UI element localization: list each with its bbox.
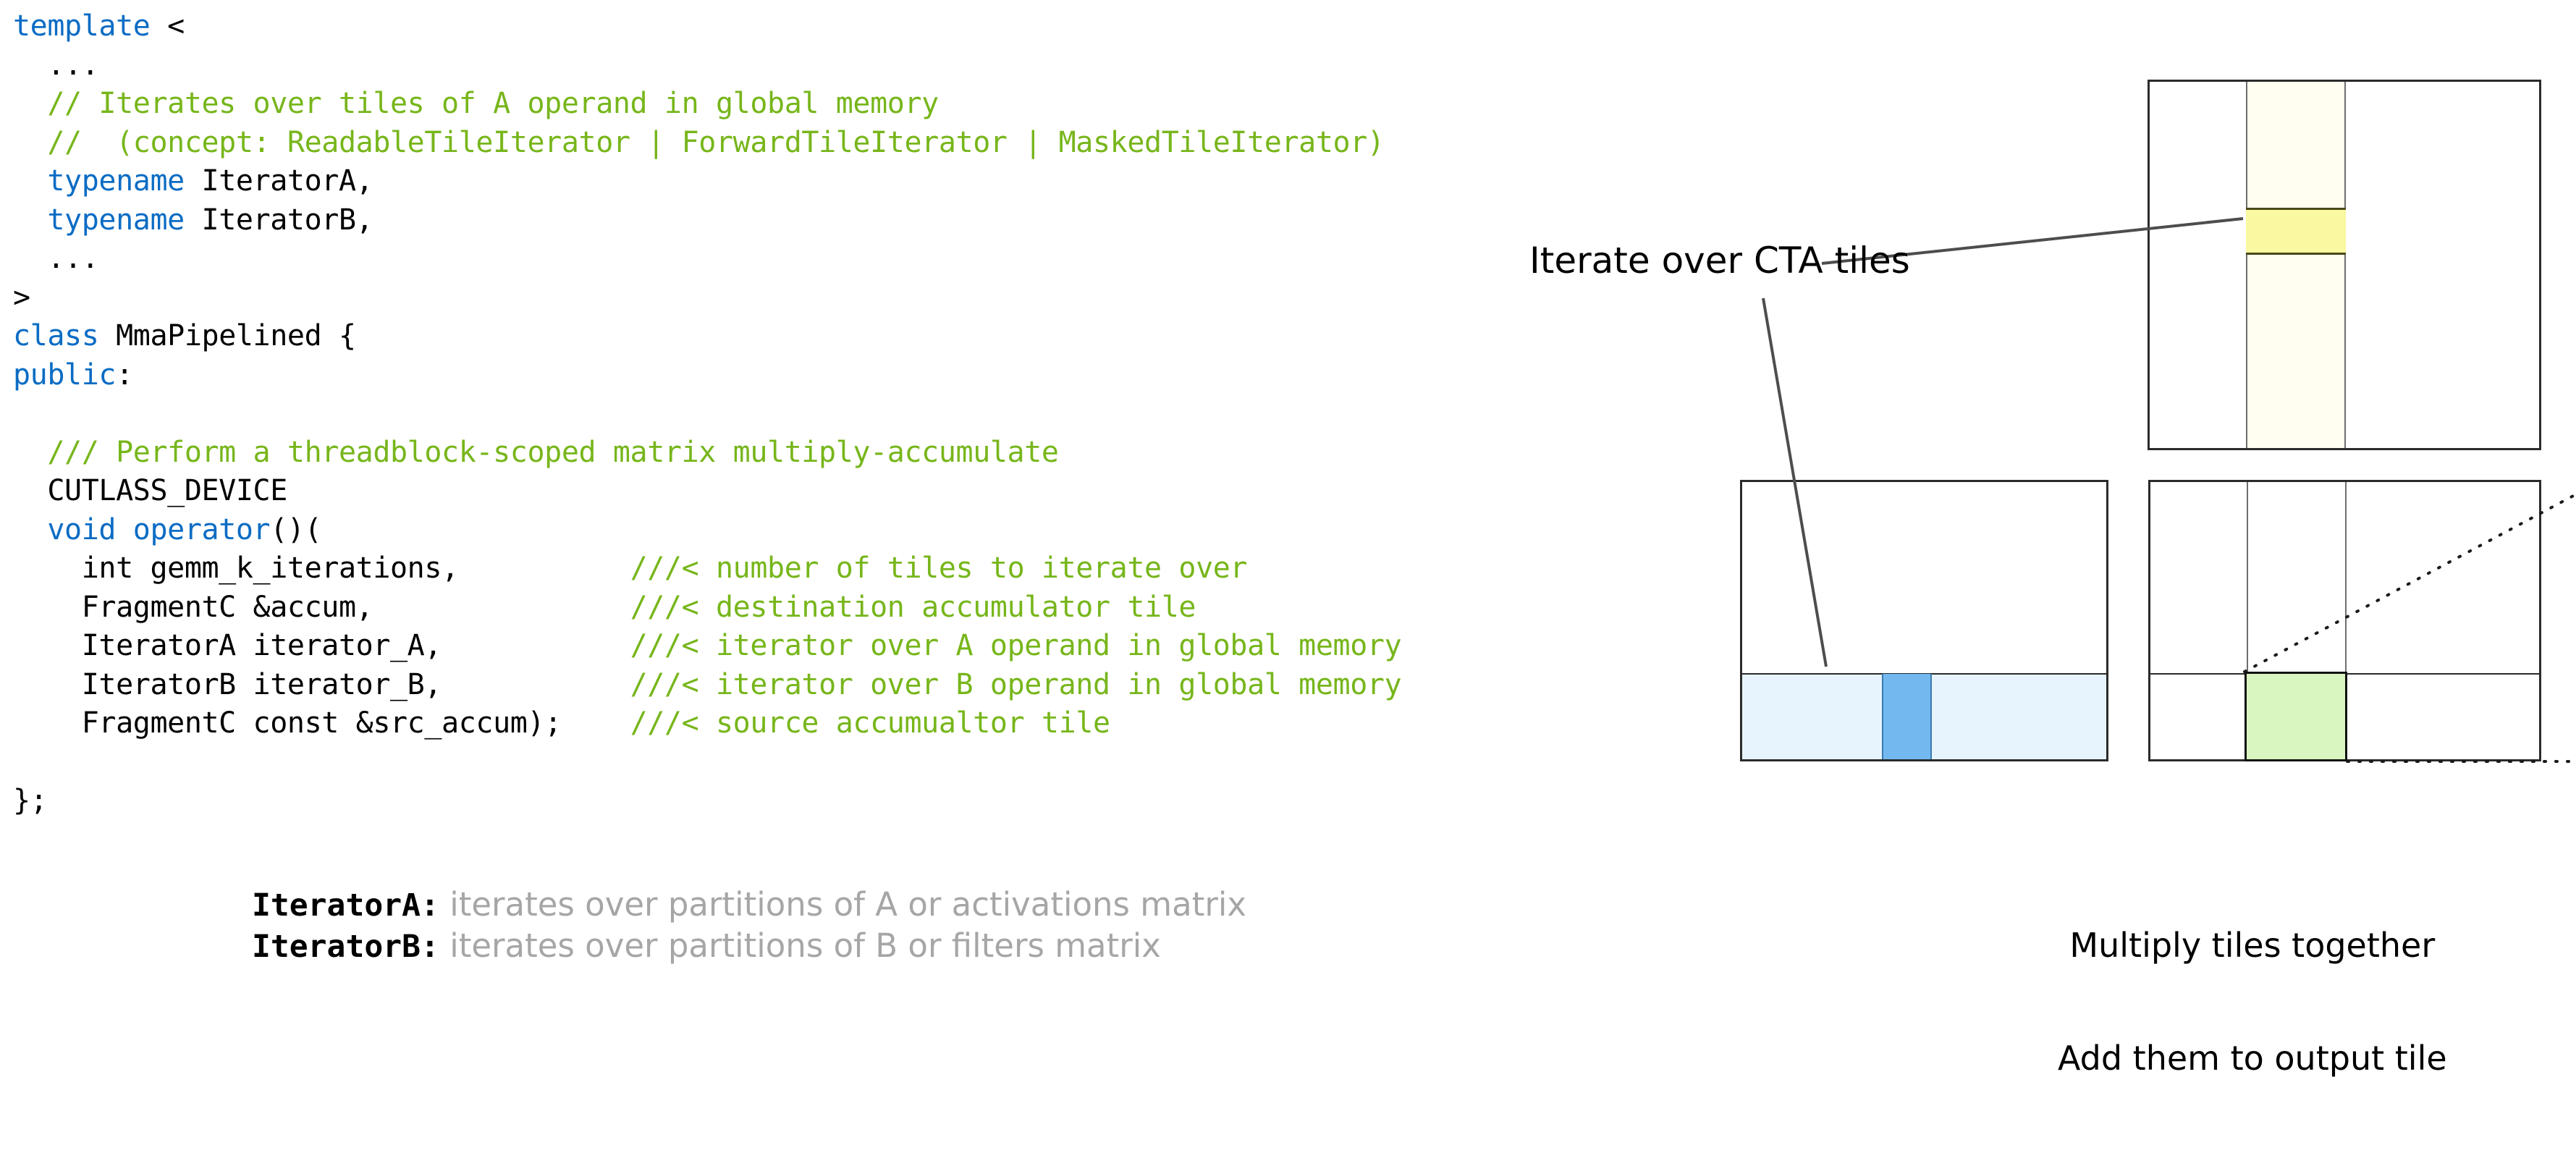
code-line: void operator()( — [13, 511, 1678, 550]
code-line: // Iterates over tiles of A operand in g… — [13, 85, 1678, 124]
code-token-kw: public — [13, 358, 116, 392]
code-token-cmt: ///< iterator over B operand in global m… — [630, 668, 1402, 701]
legend-desc-iterator-a: iterates over partitions of A or activat… — [439, 885, 1246, 924]
code-token-plain: IteratorB, — [185, 203, 373, 237]
code-token-cmt: // Iterates over tiles of A operand in g… — [13, 87, 939, 120]
code-line: }; — [13, 782, 1678, 821]
code-token-plain: int gemm_k_iterations, — [13, 552, 630, 585]
code-token-cmt: /// Perform a threadblock-scoped matrix … — [13, 436, 1059, 469]
b-operand-matrix-box — [1740, 480, 2108, 761]
a-operand-column-strip — [2246, 82, 2344, 448]
callout-line-to-b-tile — [1763, 298, 1826, 667]
b-operand-row-divider — [1740, 673, 2108, 675]
code-token-kw: class — [13, 319, 98, 352]
code-token-plain: > — [13, 281, 30, 314]
source-code-block: template < ... // Iterates over tiles of… — [13, 7, 1678, 821]
code-token-plain — [13, 513, 47, 546]
a-operand-divider-left — [2246, 82, 2247, 448]
code-token-plain: ()( — [270, 513, 321, 546]
iterator-legend: IteratorA: iterates over partitions of A… — [252, 884, 1246, 967]
code-token-plain: IteratorB iterator_B, — [13, 668, 630, 701]
c-output-divider-right — [2345, 482, 2347, 759]
c-output-matrix-box — [2148, 480, 2541, 761]
code-token-plain: FragmentC const &src_accum); — [13, 706, 630, 740]
multiply-tiles-label: Multiply tiles together Add them to outp… — [2058, 851, 2447, 1152]
code-line: > — [13, 279, 1678, 318]
legend-key-iterator-b: IteratorB: — [252, 929, 439, 965]
code-token-plain: }; — [13, 784, 47, 817]
code-line: /// Perform a threadblock-scoped matrix … — [13, 434, 1678, 473]
a-operand-cta-tile-highlight — [2246, 208, 2346, 255]
c-output-divider-left — [2247, 482, 2248, 759]
dotted-diagonal-line — [2245, 494, 2576, 672]
code-line: IteratorB iterator_B, ///< iterator over… — [13, 666, 1678, 705]
b-operand-cta-tile-highlight — [1882, 674, 1932, 759]
code-line: typename IteratorB, — [13, 201, 1678, 240]
code-token-plain: < — [167, 9, 185, 43]
code-token-plain: : — [116, 358, 133, 392]
code-line: IteratorA iterator_A, ///< iterator over… — [13, 627, 1678, 666]
code-token-kw: typename — [47, 203, 184, 237]
code-token-cmt: ///< iterator over A operand in global m… — [630, 629, 1402, 662]
legend-row: IteratorB: iterates over partitions of B… — [252, 926, 1246, 967]
code-line: int gemm_k_iterations, ///< number of ti… — [13, 549, 1678, 588]
code-line: // (concept: ReadableTileIterator | Forw… — [13, 124, 1678, 163]
code-line — [13, 394, 1678, 434]
multiply-tiles-line-1: Multiply tiles together — [2058, 926, 2447, 964]
code-line: public: — [13, 356, 1678, 395]
a-operand-divider-right — [2344, 82, 2346, 448]
code-line: ... — [13, 240, 1678, 279]
code-line: FragmentC const &src_accum); ///< source… — [13, 704, 1678, 743]
b-operand-row-strip — [1742, 674, 2106, 759]
code-line: CUTLASS_DEVICE — [13, 472, 1678, 511]
code-token-plain: ... — [13, 48, 98, 82]
code-token-cmt: ///< destination accumulator tile — [630, 591, 1196, 624]
code-line: class MmaPipelined { — [13, 317, 1678, 356]
code-token-plain: ... — [13, 242, 98, 275]
a-operand-matrix-box — [2148, 80, 2541, 450]
code-line: template < — [13, 7, 1678, 46]
code-token-plain — [13, 203, 47, 237]
code-token-plain: CUTLASS_DEVICE — [13, 474, 287, 507]
code-token-kw: void operator — [47, 513, 270, 546]
code-token-plain — [13, 164, 47, 198]
code-token-cmt: ///< number of tiles to iterate over — [630, 552, 1248, 585]
code-token-kw: typename — [47, 164, 184, 198]
code-line — [13, 743, 1678, 782]
code-line: ... — [13, 46, 1678, 85]
code-token-kw: template — [13, 9, 167, 43]
multiply-tiles-line-2: Add them to output tile — [2058, 1039, 2447, 1077]
c-output-tile-highlight — [2245, 672, 2347, 761]
code-token-plain: MmaPipelined { — [98, 319, 355, 352]
code-token-plain: IteratorA iterator_A, — [13, 629, 630, 662]
code-line: FragmentC &accum, ///< destination accum… — [13, 588, 1678, 628]
c-output-row-divider — [2148, 673, 2541, 675]
code-line: typename IteratorA, — [13, 162, 1678, 201]
code-token-cmt: ///< source accumualtor tile — [630, 706, 1110, 740]
legend-desc-iterator-b: iterates over partitions of B or filters… — [439, 926, 1161, 965]
code-token-plain: FragmentC &accum, — [13, 591, 630, 624]
legend-row: IteratorA: iterates over partitions of A… — [252, 884, 1246, 926]
code-token-cmt: // (concept: ReadableTileIterator | Forw… — [13, 126, 1385, 159]
code-token-plain: IteratorA, — [185, 164, 373, 198]
legend-key-iterator-a: IteratorA: — [252, 887, 439, 924]
callout-line-to-a-tile — [1822, 219, 2243, 263]
